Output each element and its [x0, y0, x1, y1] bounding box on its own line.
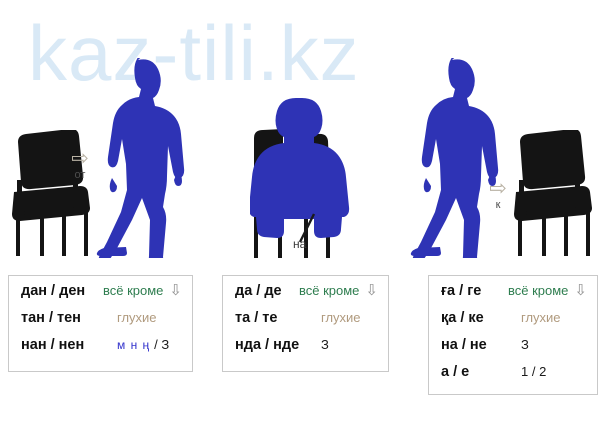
- row-value-text: З: [321, 337, 329, 352]
- table-row: тан / тен глухие: [21, 310, 182, 337]
- arrow-down-icon: ⇩: [574, 283, 587, 298]
- table-row: нда / нде З: [235, 337, 378, 364]
- row-value-text: м н ң: [117, 338, 150, 352]
- row-value-text: 1 / 2: [521, 364, 546, 379]
- row-value-text: всё кроме: [299, 283, 359, 298]
- row-value-text: всё кроме: [508, 283, 568, 298]
- row-value-text: всё кроме: [103, 283, 163, 298]
- row-value: З: [521, 337, 529, 352]
- arrow-down-icon: ⇩: [169, 283, 182, 298]
- figure-walking-left: [94, 58, 198, 258]
- row-key: ға / ге: [441, 283, 508, 299]
- table-ablative: дан / ден всё кроме ⇩ тан / тен глухие н…: [8, 275, 193, 372]
- arrow-down-icon: ⇩: [365, 283, 378, 298]
- row-value-text: глухие: [321, 310, 361, 325]
- row-key: тан / тен: [21, 310, 117, 326]
- table-row: ға / ге всё кроме ⇩: [441, 283, 587, 310]
- table-row: дан / ден всё кроме ⇩: [21, 283, 182, 310]
- table-row: нан / нен м н ң / З: [21, 337, 182, 364]
- row-value-text: глухие: [117, 310, 157, 325]
- row-value-suffix: / З: [154, 337, 169, 352]
- table-dative: ға / ге всё кроме ⇩ қа / ке глухие на / …: [428, 275, 598, 395]
- row-value: З: [321, 337, 329, 352]
- row-key: дан / ден: [21, 283, 103, 299]
- row-value: м н ң / З: [117, 337, 169, 352]
- row-key: та / те: [235, 310, 321, 326]
- row-key: нан / нен: [21, 337, 117, 353]
- row-value: 1 / 2: [521, 364, 546, 379]
- row-key: қа / ке: [441, 310, 521, 326]
- row-value-text: З: [521, 337, 529, 352]
- row-value: глухие: [117, 310, 157, 325]
- row-key: да / де: [235, 283, 299, 299]
- table-locative: да / де всё кроме ⇩ та / те глухие нда /…: [222, 275, 389, 372]
- row-key: на / не: [441, 337, 521, 353]
- table-row: да / де всё кроме ⇩: [235, 283, 378, 310]
- poster-canvas: kaz-tili.kz ⇨ от: [0, 0, 604, 427]
- row-key: нда / нде: [235, 337, 321, 353]
- table-row: на / не З: [441, 337, 587, 364]
- row-value: глухие: [321, 310, 361, 325]
- row-key: а / е: [441, 364, 521, 380]
- figure-walking-right: [408, 58, 512, 258]
- seated-label-na: на: [293, 237, 306, 251]
- chair-right: [506, 130, 594, 258]
- row-value: всё кроме ⇩: [103, 283, 182, 298]
- illustration-scene: ⇨ от: [0, 0, 604, 265]
- row-value: всё кроме ⇩: [508, 283, 587, 298]
- row-value: глухие: [521, 310, 561, 325]
- row-value: всё кроме ⇩: [299, 283, 378, 298]
- row-value-text: глухие: [521, 310, 561, 325]
- table-row: қа / ке глухие: [441, 310, 587, 337]
- table-row: а / е 1 / 2: [441, 364, 587, 391]
- table-row: та / те глухие: [235, 310, 378, 337]
